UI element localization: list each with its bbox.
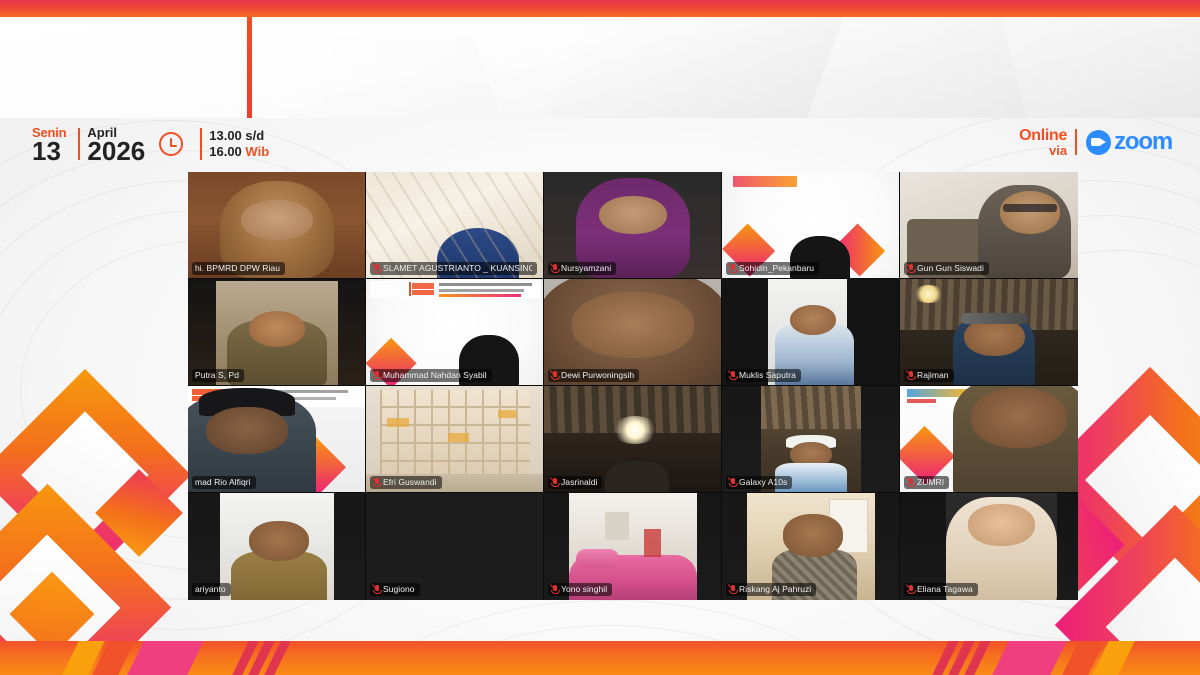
event-year: 2026: [87, 140, 145, 162]
zoom-wordmark: zoom: [1114, 130, 1172, 154]
online-divider: [1075, 129, 1077, 155]
bottom-accent-band: [0, 641, 1200, 675]
mic-muted-icon: [907, 371, 914, 381]
participant-name: Dewi Purwoningsih: [561, 370, 634, 381]
participant-tile[interactable]: Putra S, Pd: [188, 279, 366, 386]
participant-nametag: Muklis Saputra: [726, 369, 801, 382]
mic-muted-icon: [373, 478, 380, 488]
mic-muted-icon: [551, 371, 558, 381]
participant-name: ariyanto: [195, 584, 226, 595]
participant-tile[interactable]: ariyanto: [188, 493, 366, 600]
participant-nametag: Riskang Aj Pahruzi: [726, 583, 816, 596]
participant-nametag: Galaxy A10s: [726, 476, 792, 489]
participant-tile[interactable]: hi. BPMRD DPW Riau: [188, 172, 366, 279]
participant-nametag: Sohidin_Pekanbaru: [726, 262, 819, 275]
participant-nametag: Dewi Purwoningsih: [548, 369, 639, 382]
event-datetime: Senin 13 April 2026 13.00 s/d 16.00 Wib: [32, 122, 269, 166]
via-label: via: [1019, 144, 1067, 157]
participant-tile[interactable]: SLAMET AGUSTRIANTO _ KUANSING: [366, 172, 544, 279]
participant-nametag: Jasrinaldi: [548, 476, 602, 489]
zoom-logo: zoom: [1086, 130, 1172, 155]
participant-tile[interactable]: Rajiman: [900, 279, 1078, 386]
webinar-banner-canvas: KOMDIGI Kementerian Komunikasi dan Digit…: [0, 0, 1200, 675]
participant-name: SLAMET AGUSTRIANTO _ KUANSING: [383, 263, 532, 274]
online-label: Online: [1019, 128, 1067, 144]
participant-nametag: ariyanto: [192, 583, 231, 596]
participant-name: Jasrinaldi: [561, 477, 597, 488]
participant-tile[interactable]: Gun Gun Siswadi: [900, 172, 1078, 279]
top-accent-bar: [0, 0, 1200, 17]
participant-name: Rajiman: [917, 370, 949, 381]
participant-tile[interactable]: Dewi Purwoningsih: [544, 279, 722, 386]
participant-nametag: Sugiono: [370, 583, 420, 596]
participant-tile[interactable]: Galaxy A10s: [722, 386, 900, 493]
participant-name: ZUMRI: [917, 477, 944, 488]
mic-muted-icon: [373, 585, 380, 595]
online-platform: Online via zoom: [1019, 122, 1172, 162]
participant-name: Putra S, Pd: [195, 370, 239, 381]
participant-tile[interactable]: Sohidin_Pekanbaru: [722, 172, 900, 279]
mic-muted-icon: [373, 371, 380, 381]
participant-tile[interactable]: Muklis Saputra: [722, 279, 900, 386]
participant-nametag: Eliana Tagawa: [904, 583, 978, 596]
participant-nametag: ZUMRI: [904, 476, 949, 489]
participant-name: Sohidin_Pekanbaru: [739, 263, 814, 274]
mic-muted-icon: [907, 264, 914, 274]
mic-muted-icon: [907, 585, 914, 595]
participant-name: Efri Guswandi: [383, 477, 437, 488]
participant-nametag: Efri Guswandi: [370, 476, 442, 489]
mic-muted-icon: [729, 264, 736, 274]
event-time-end: 16.00: [209, 144, 242, 159]
participant-nametag: Muhammad Nahdan Syabil: [370, 369, 492, 382]
participant-nametag: Putra S, Pd: [192, 369, 244, 382]
participant-nametag: Yono singhil: [548, 583, 612, 596]
participant-name: Muklis Saputra: [739, 370, 796, 381]
participant-name: Nursyamzani: [561, 263, 611, 274]
participant-tile[interactable]: ZUMRI: [900, 386, 1078, 493]
datetime-divider-2: [200, 128, 202, 160]
datetime-divider-1: [78, 128, 80, 160]
participant-tile[interactable]: Eliana Tagawa: [900, 493, 1078, 600]
participant-name: Galaxy A10s: [739, 477, 787, 488]
video-camera-icon: [1086, 130, 1111, 155]
participant-nametag: SLAMET AGUSTRIANTO _ KUANSING: [370, 262, 537, 275]
mic-muted-icon: [729, 478, 736, 488]
participant-tile[interactable]: mad Rio Alfiqri: [188, 386, 366, 493]
header-divider: [247, 17, 252, 118]
participant-tile[interactable]: Riskang Aj Pahruzi: [722, 493, 900, 600]
participant-name: Eliana Tagawa: [917, 584, 973, 595]
participant-nametag: hi. BPMRD DPW Riau: [192, 262, 285, 275]
participant-nametag: Nursyamzani: [548, 262, 616, 275]
participant-name: Yono singhil: [561, 584, 607, 595]
participant-name: hi. BPMRD DPW Riau: [195, 263, 280, 274]
zoom-participant-grid[interactable]: hi. BPMRD DPW Riau SLAMET AGUSTRIANTO _ …: [188, 172, 1078, 600]
mic-muted-icon: [551, 478, 558, 488]
participant-tile[interactable]: Jasrinaldi: [544, 386, 722, 493]
participant-tile[interactable]: Muhammad Nahdan Syabil: [366, 279, 544, 386]
clock-icon: [159, 132, 183, 156]
header-panel: [0, 17, 1200, 118]
participant-name: Gun Gun Siswadi: [917, 263, 984, 274]
participant-nametag: mad Rio Alfiqri: [192, 476, 256, 489]
mic-muted-icon: [551, 585, 558, 595]
participant-tile[interactable]: Efri Guswandi: [366, 386, 544, 493]
mic-muted-icon: [729, 371, 736, 381]
participant-name: mad Rio Alfiqri: [195, 477, 251, 488]
participant-name: Muhammad Nahdan Syabil: [383, 370, 487, 381]
participant-name: Sugiono: [383, 584, 415, 595]
participant-nametag: Gun Gun Siswadi: [904, 262, 989, 275]
mic-muted-icon: [373, 264, 380, 274]
event-day-number: 13: [32, 140, 66, 162]
mic-muted-icon: [551, 264, 558, 274]
mic-muted-icon: [907, 478, 914, 488]
event-time-start: 13.00 s/d: [209, 128, 269, 144]
participant-tile[interactable]: Yono singhil: [544, 493, 722, 600]
participant-nametag: Rajiman: [904, 369, 954, 382]
participant-tile[interactable]: Nursyamzani: [544, 172, 722, 279]
event-timezone: Wib: [245, 144, 269, 159]
participant-tile[interactable]: Sugiono: [366, 493, 544, 600]
mic-muted-icon: [729, 585, 736, 595]
participant-name: Riskang Aj Pahruzi: [739, 584, 811, 595]
